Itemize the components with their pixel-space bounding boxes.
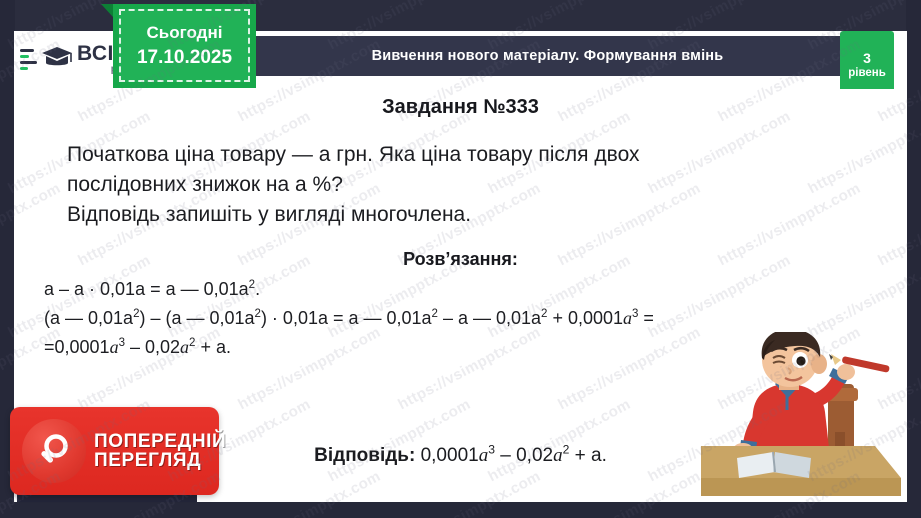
solution-body: a – a · 0,01a = a — 0,01a2. (a — 0,01a2)… — [44, 275, 904, 362]
sol2-var1: a — [623, 308, 632, 328]
task-statement: Початкова ціна товару — a грн. Яка ціна … — [67, 140, 857, 229]
date-badge-fold — [101, 4, 113, 17]
task-line-3: Відповідь запишіть у вигляді многочлена. — [67, 200, 857, 230]
task-line-1: Початкова ціна товару — a грн. Яка ціна … — [67, 140, 857, 170]
presentation-slide: ВСІМ pptx Сьогодні 17.10.2025 Вивчення н… — [0, 0, 921, 518]
lesson-stage-text: Вивчення нового матеріалу. Формування вм… — [372, 48, 724, 64]
level-number: 3 — [863, 51, 871, 66]
date-badge-label: Сьогодні — [147, 23, 223, 43]
level-label: рівень — [848, 67, 886, 81]
sol3-part1: =0,0001 — [44, 337, 110, 357]
speed-lines-icon — [20, 49, 37, 70]
difficulty-level-ribbon: 3 рівень — [840, 37, 894, 89]
solution-line-1: a – a · 0,01a = a — 0,01a2. — [44, 275, 904, 304]
slide-frame-bottom — [0, 502, 921, 518]
sol1-part2: . — [255, 279, 260, 299]
date-badge-value: 17.10.2025 — [137, 47, 232, 69]
task-line-2: послідовних знижок на a %? — [67, 170, 857, 200]
sol2-part5: + 0,0001 — [547, 308, 623, 328]
answer-sup1: 3 — [488, 443, 495, 457]
solution-line-2: (a — 0,01a2) – (a — 0,01a2) · 0,01a = a … — [44, 304, 904, 333]
sol3-part3: + a. — [195, 337, 231, 357]
sol3-var1: a — [110, 337, 119, 357]
answer-var1: a — [479, 445, 489, 466]
sol3-var2: a — [180, 337, 189, 357]
preview-button[interactable]: ПОПЕРЕДНІЙ ПЕРЕГЛЯД — [10, 407, 219, 495]
graduation-cap-icon — [40, 43, 74, 75]
task-title: Завдання №333 — [0, 96, 921, 119]
sol1-part1: a – a · 0,01a = a — 0,01a — [44, 279, 249, 299]
date-badge: Сьогодні 17.10.2025 — [113, 4, 256, 88]
magnifier-icon — [22, 419, 86, 483]
sol2-part3: ) · 0,01a = a — 0,01a — [261, 308, 432, 328]
preview-button-line1: ПОПЕРЕДНІЙ — [94, 432, 226, 451]
answer-label: Відповідь: — [314, 445, 415, 466]
sol2-part6: = — [638, 308, 654, 328]
solution-heading: Розв’язання: — [0, 249, 921, 270]
lesson-stage-banner: Вивчення нового матеріалу. Формування вм… — [255, 36, 840, 76]
sol2-part4: – a — 0,01a — [438, 308, 541, 328]
answer-part2: – 0,02 — [495, 445, 553, 466]
answer-var2: a — [553, 445, 563, 466]
sol3-part2: – 0,02 — [125, 337, 180, 357]
preview-button-line2: ПЕРЕГЛЯД — [94, 451, 226, 470]
ribbon-top-strip — [840, 31, 894, 39]
sol2-part1: (a — 0,01a — [44, 308, 133, 328]
solution-line-3: =0,0001a3 – 0,02a2 + a. — [44, 333, 904, 362]
brand-logo: ВСІМ pptx — [15, 31, 123, 87]
answer-part3: + a. — [569, 445, 607, 466]
answer-part1: 0,0001 — [415, 445, 478, 466]
sol2-part2: ) – (a — 0,01a — [139, 308, 254, 328]
